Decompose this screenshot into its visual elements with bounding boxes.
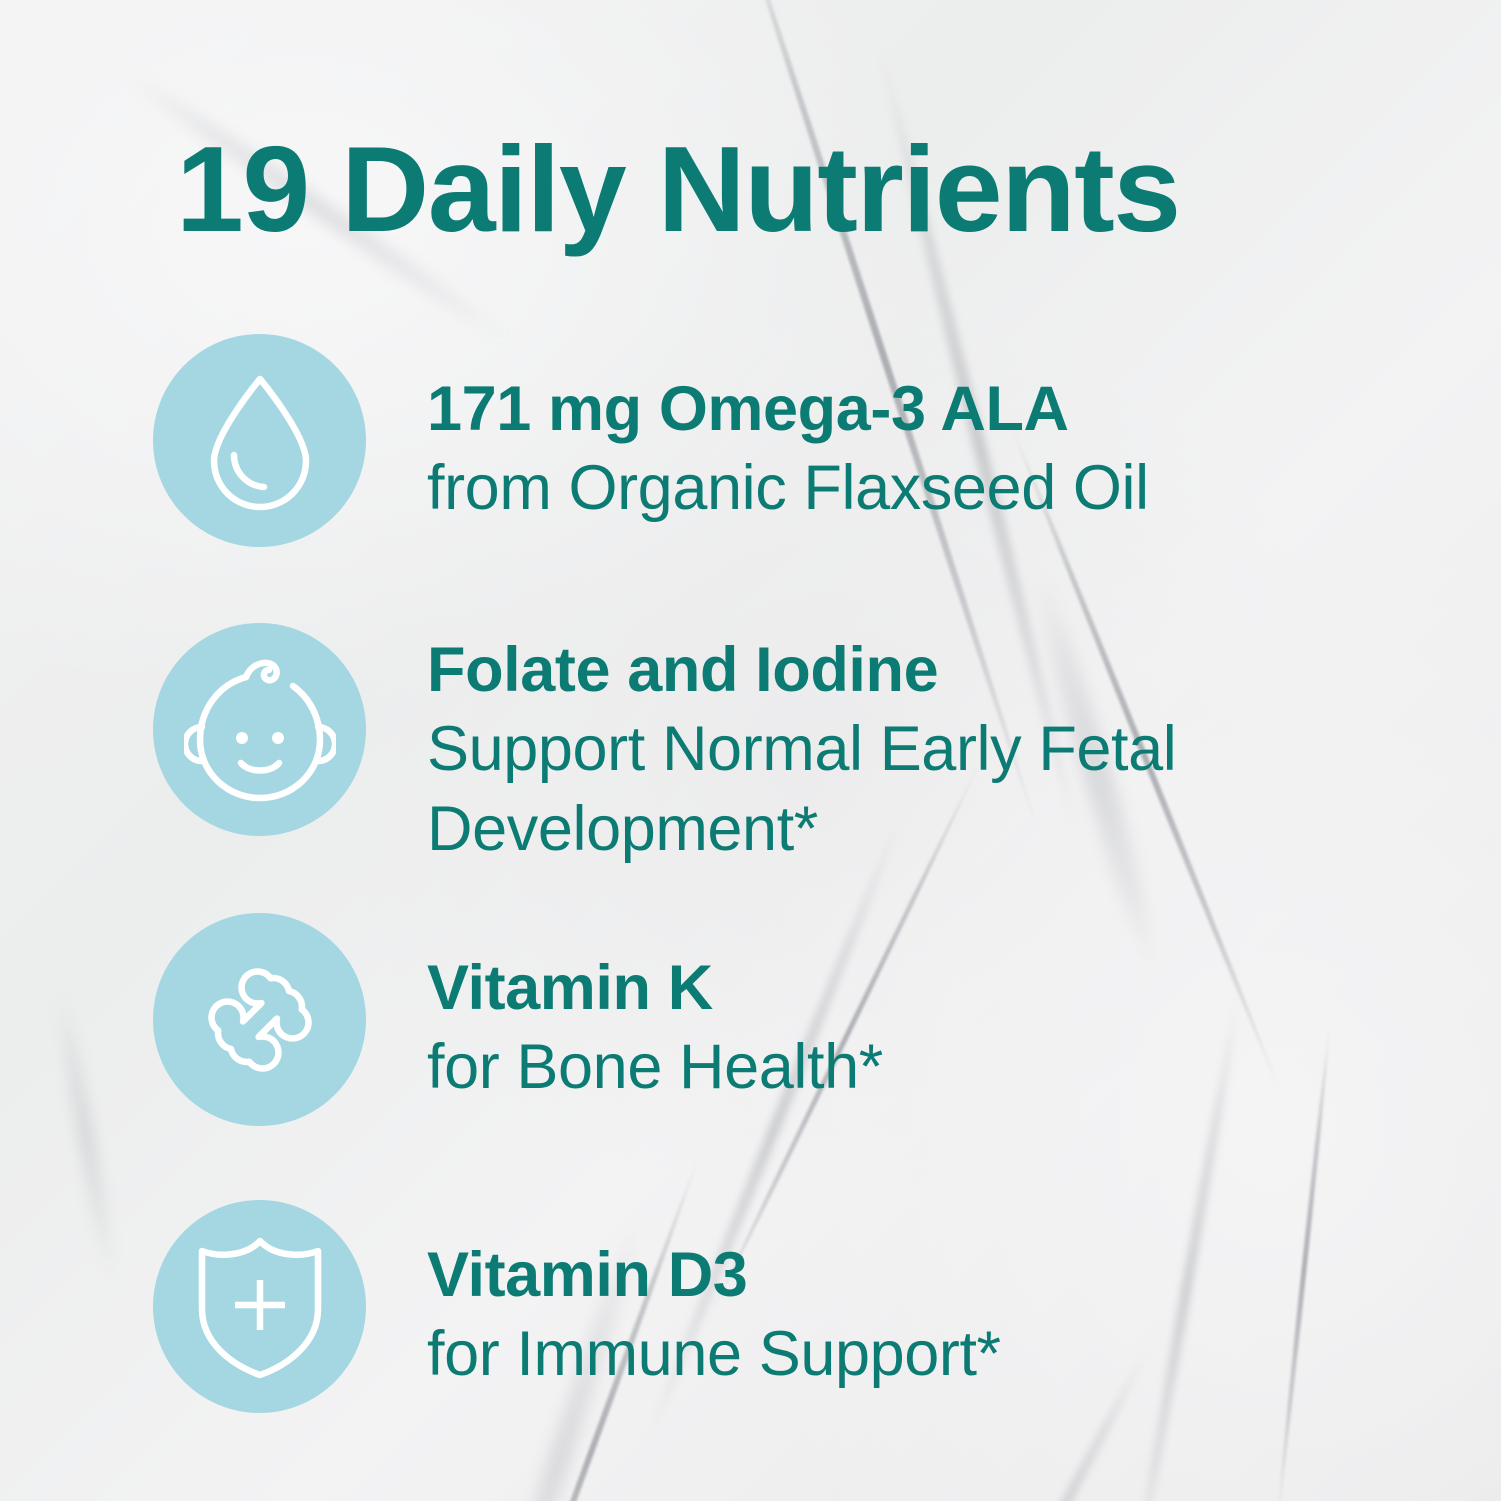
bone-icon-badge	[153, 913, 366, 1126]
bone-icon	[185, 945, 335, 1095]
baby-face-icon-badge	[153, 623, 366, 836]
nutrient-text-block: Vitamin K for Bone Health*	[427, 949, 1387, 1108]
page-title: 19 Daily Nutrients	[176, 128, 1180, 250]
list-item: Vitamin K for Bone Health*	[0, 913, 1501, 1143]
nutrient-detail: Support Normal Early Fetal Development*	[427, 710, 1387, 869]
nutrient-text-block: 171 mg Omega-3 ALA from Organic Flaxseed…	[427, 370, 1387, 529]
nutrient-headline: Vitamin K	[427, 949, 1387, 1028]
baby-face-icon	[184, 655, 336, 805]
list-item: 171 mg Omega-3 ALA from Organic Flaxseed…	[0, 334, 1501, 564]
nutrient-detail: for Immune Support*	[427, 1315, 1387, 1394]
nutrient-headline: 171 mg Omega-3 ALA	[427, 370, 1387, 449]
nutrient-headline: Folate and Iodine	[427, 631, 1387, 710]
list-item: Folate and Iodine Support Normal Early F…	[0, 623, 1501, 853]
list-item: Vitamin D3 for Immune Support*	[0, 1200, 1501, 1430]
nutrient-detail: from Organic Flaxseed Oil	[427, 449, 1387, 528]
shield-plus-icon	[192, 1233, 328, 1381]
water-droplet-icon-badge	[153, 334, 366, 547]
marketing-infographic-page: 19 Daily Nutrients 171 mg Omega-3 ALA fr…	[0, 0, 1501, 1501]
shield-plus-icon-badge	[153, 1200, 366, 1413]
nutrient-text-block: Vitamin D3 for Immune Support*	[427, 1236, 1387, 1395]
nutrient-headline: Vitamin D3	[427, 1236, 1387, 1315]
water-droplet-icon	[200, 371, 320, 511]
nutrient-text-block: Folate and Iodine Support Normal Early F…	[427, 631, 1387, 869]
nutrient-detail: for Bone Health*	[427, 1028, 1387, 1107]
